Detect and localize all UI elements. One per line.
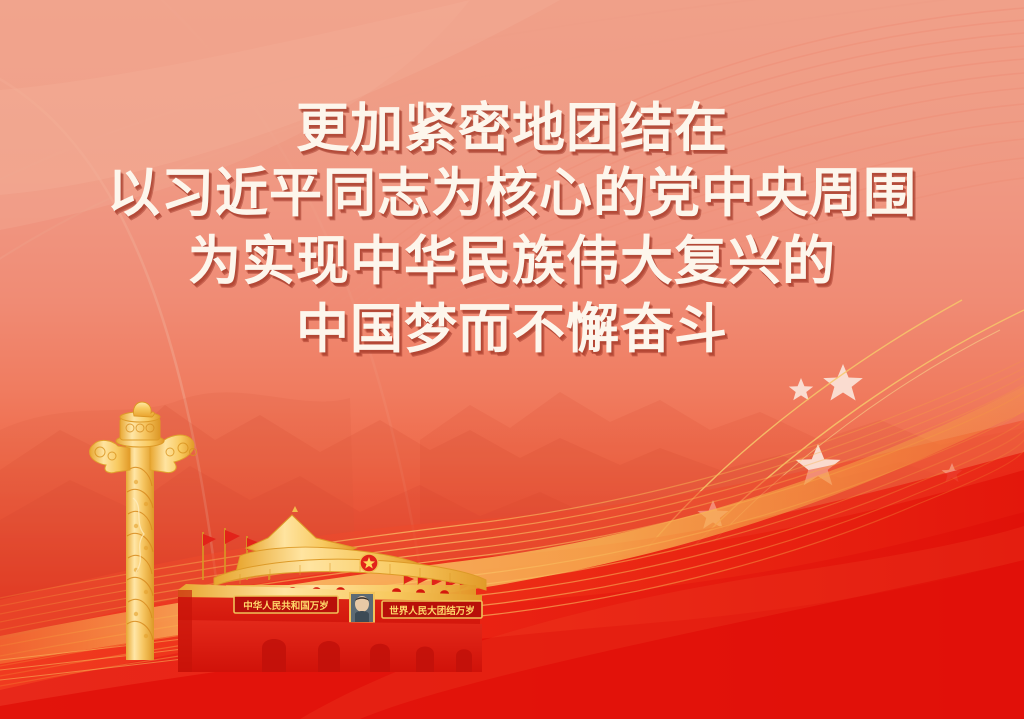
right-banner-text: 世界人民大团结万岁	[389, 605, 475, 617]
headline-line-1: 更加紧密地团结在	[0, 98, 1024, 160]
chairman-portrait	[349, 592, 375, 624]
headline-line-4: 中国梦而不懈奋斗	[0, 296, 1024, 364]
headline-block: 更加紧密地团结在 以习近平同志为核心的党中央周围 为实现中华民族伟大复兴的 中国…	[0, 98, 1024, 364]
left-banner-text: 中华人民共和国万岁	[243, 600, 329, 612]
national-emblem-icon	[360, 554, 378, 572]
poster-canvas: 更加紧密地团结在 以习近平同志为核心的党中央周围 为实现中华民族伟大复兴的 中国…	[0, 0, 1024, 719]
left-banner: 中华人民共和国万岁	[234, 596, 338, 613]
right-banner: 世界人民大团结万岁	[382, 601, 482, 618]
headline-line-3: 为实现中华民族伟大复兴的	[0, 228, 1024, 296]
tiananmen-gate: 中华人民共和国万岁 世界人民大团结万岁	[178, 506, 486, 672]
headline-line-2: 以习近平同志为核心的党中央周围	[0, 160, 1024, 228]
